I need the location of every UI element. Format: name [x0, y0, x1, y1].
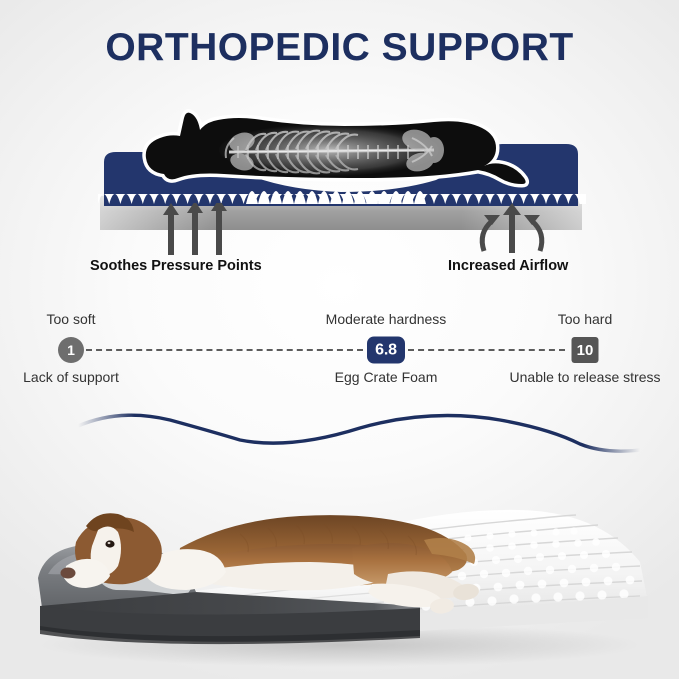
scale-marker-moderate: 6.8: [367, 337, 405, 364]
infographic-canvas: ORTHOPEDIC SUPPORT: [0, 0, 679, 679]
increased-airflow-label: Increased Airflow: [448, 258, 568, 274]
dog-on-orthopedic-bed-photo: [0, 430, 679, 679]
dog-skeleton-xray: [219, 124, 444, 176]
scale-marker-too-soft: 1: [58, 337, 84, 363]
scale-marker-too-hard: 10: [572, 337, 599, 363]
page-title: ORTHOPEDIC SUPPORT: [0, 26, 679, 70]
dog-xray-silhouette: [134, 104, 544, 196]
soothes-pressure-points-label: Soothes Pressure Points: [90, 258, 262, 274]
scale-connector-left: [86, 349, 363, 351]
scale-top-label-too-soft: Too soft: [46, 311, 95, 327]
scale-top-label-too-hard: Too hard: [558, 311, 612, 327]
scale-bottom-label-lack-of-support: Lack of support: [23, 369, 119, 385]
scale-bottom-label-unable-to-release-stress: Unable to release stress: [510, 369, 661, 385]
scale-bottom-label-egg-crate-foam: Egg Crate Foam: [335, 369, 438, 385]
scale-connector-right: [408, 349, 565, 351]
airflow-arrows-icon: [472, 203, 552, 260]
three-up-arrows-icon: [160, 203, 230, 260]
scale-top-label-moderate: Moderate hardness: [326, 311, 447, 327]
hardness-scale: Too soft Moderate hardness Too hard 1 6.…: [0, 300, 679, 400]
